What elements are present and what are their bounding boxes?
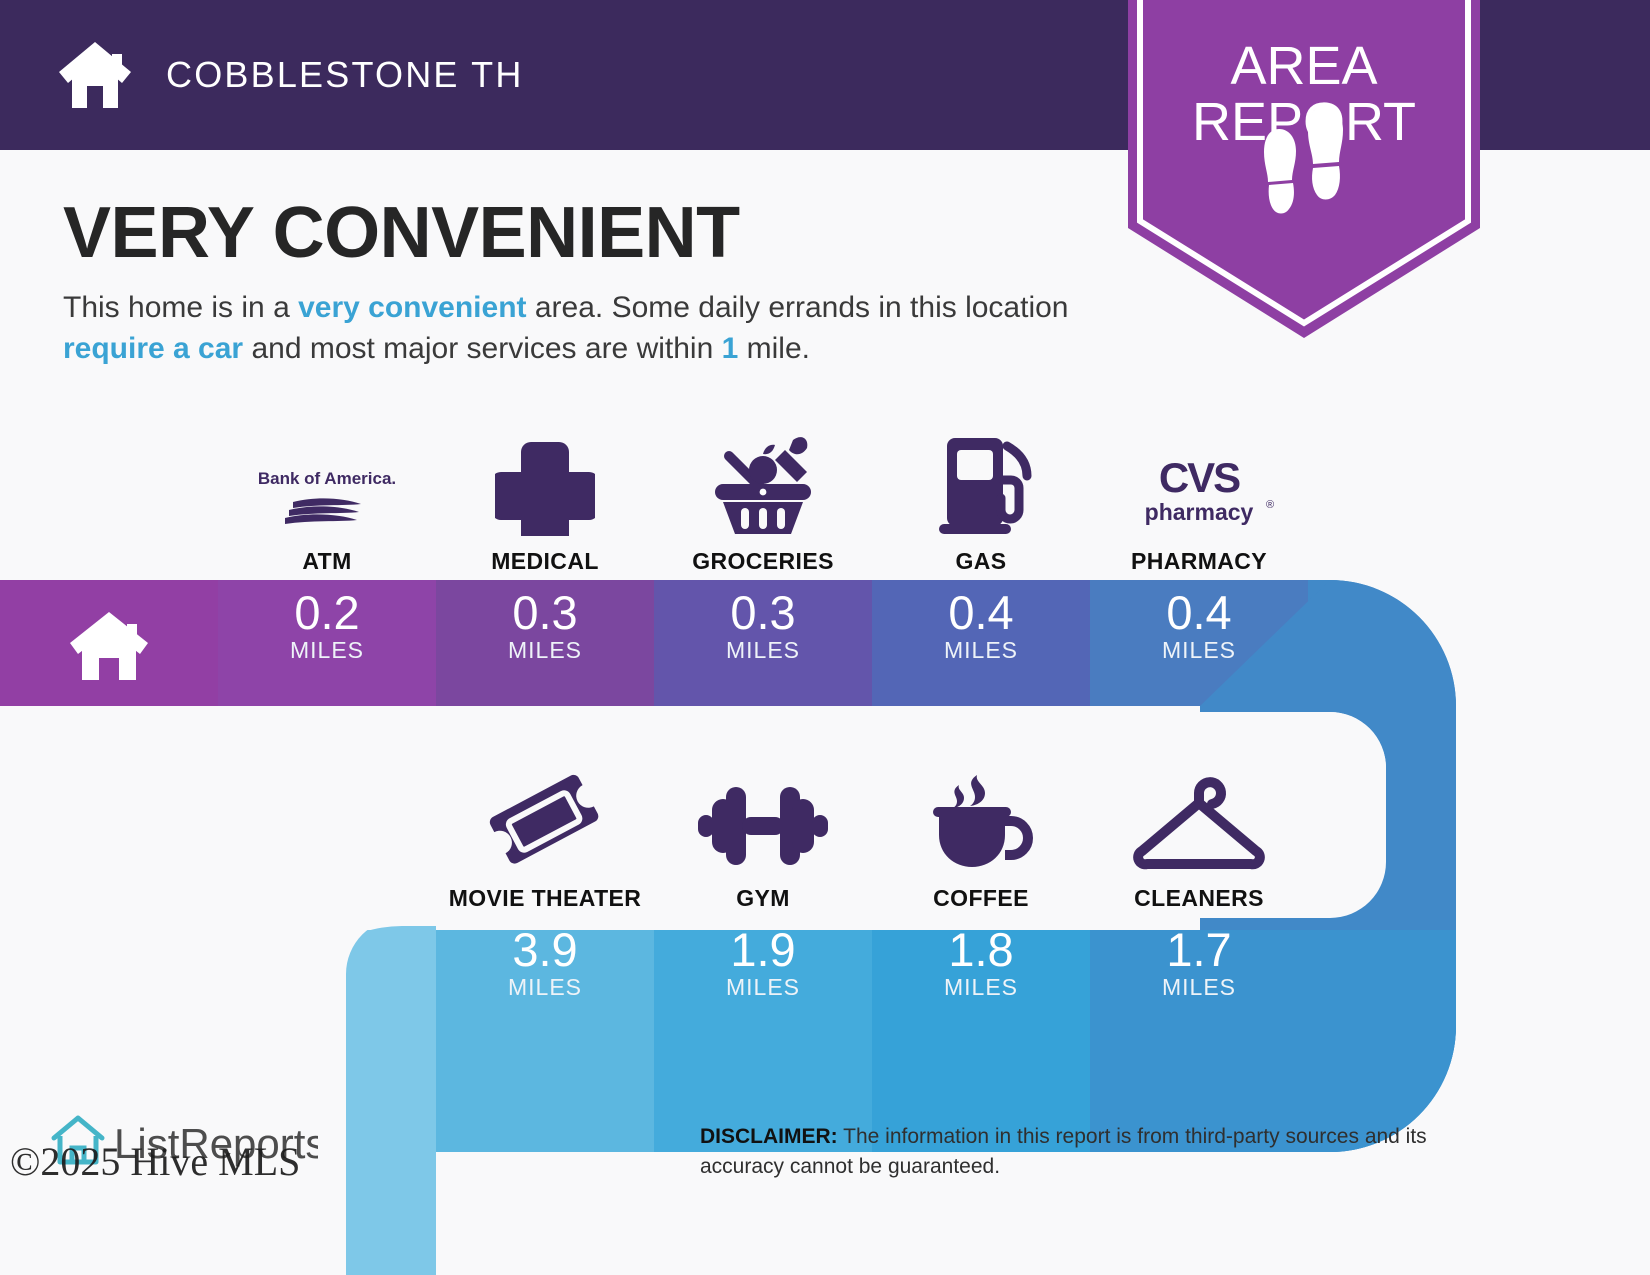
- route-home-marker: [0, 588, 218, 704]
- desc-highlight-car: require a car: [63, 332, 243, 365]
- disclaimer-label: DISCLAIMER:: [700, 1125, 838, 1148]
- distance-value-gym: 1.9: [654, 925, 872, 974]
- clothes-hanger-icon: [1090, 755, 1308, 873]
- poi-label-groceries: GROCERIES: [654, 548, 872, 575]
- poi-cleaners: CLEANERS: [1090, 755, 1308, 912]
- poi-movie-theater: MOVIE THEATER: [436, 755, 654, 912]
- distance-groceries: 0.3 MILES: [654, 588, 872, 664]
- page-description: This home is in a very convenient area. …: [63, 288, 1123, 370]
- distance-gym: 1.9 MILES: [654, 925, 872, 1001]
- desc-part4: mile.: [738, 332, 810, 365]
- desc-highlight-convenience: very convenient: [298, 291, 526, 324]
- distance-unit-groceries: MILES: [654, 637, 872, 664]
- poi-groceries: GROCERIES: [654, 418, 872, 575]
- distance-value-groceries: 0.3: [654, 588, 872, 637]
- distance-unit-pharmacy: MILES: [1090, 637, 1308, 664]
- distance-value-gas: 0.4: [872, 588, 1090, 637]
- distance-atm: 0.2 MILES: [218, 588, 436, 664]
- desc-part2: area. Some daily errands in this locatio…: [527, 291, 1069, 324]
- distance-value-movie-theater: 3.9: [436, 925, 654, 974]
- svg-text:CVS: CVS: [1159, 454, 1240, 501]
- poi-label-medical: MEDICAL: [436, 548, 654, 575]
- poi-label-gas: GAS: [872, 548, 1090, 575]
- gas-pump-icon: [872, 418, 1090, 536]
- area-report-badge: AREA REPORT: [1128, 0, 1480, 338]
- poi-label-cleaners: CLEANERS: [1090, 885, 1308, 912]
- row1-distances: 0.2 MILES 0.3 MILES 0.3 MILES 0.4 MILES …: [0, 588, 1650, 704]
- route-left-gap: [0, 712, 280, 932]
- poi-coffee: COFFEE: [872, 755, 1090, 912]
- distance-unit-gym: MILES: [654, 974, 872, 1001]
- distance-value-pharmacy: 0.4: [1090, 588, 1308, 637]
- grocery-basket-icon: [654, 418, 872, 536]
- cvs-pharmacy-logo: CVS pharmacy ®: [1090, 418, 1308, 536]
- badge-line2: REPORT: [1192, 92, 1416, 152]
- poi-gym: GYM: [654, 755, 872, 912]
- distance-value-coffee: 1.8: [872, 925, 1090, 974]
- distance-value-medical: 0.3: [436, 588, 654, 637]
- poi-label-pharmacy: PHARMACY: [1090, 548, 1308, 575]
- distance-unit-atm: MILES: [218, 637, 436, 664]
- home-icon: [56, 38, 134, 112]
- distance-unit-medical: MILES: [436, 637, 654, 664]
- svg-text:®: ®: [1266, 499, 1274, 511]
- area-report-page: COBBLESTONE TH AREA REPORT VERY CONVENIE…: [0, 0, 1650, 1275]
- distance-movie-theater: 3.9 MILES: [436, 925, 654, 1001]
- distance-unit-movie-theater: MILES: [436, 974, 654, 1001]
- poi-gas: GAS: [872, 418, 1090, 575]
- svg-text:pharmacy: pharmacy: [1145, 499, 1254, 525]
- coffee-cup-icon: [872, 755, 1090, 873]
- disclaimer: DISCLAIMER: The information in this repo…: [700, 1122, 1510, 1182]
- badge-line1: AREA: [1230, 36, 1377, 96]
- bank-of-america-logo: Bank of America.: [218, 418, 436, 536]
- property-title: COBBLESTONE TH: [166, 54, 524, 96]
- svg-text:Bank of America.: Bank of America.: [258, 469, 396, 488]
- desc-highlight-miles: 1: [722, 332, 739, 365]
- poi-medical: MEDICAL: [436, 418, 654, 575]
- distance-unit-gas: MILES: [872, 637, 1090, 664]
- distance-value-atm: 0.2: [218, 588, 436, 637]
- distance-unit-cleaners: MILES: [1090, 974, 1308, 1001]
- mls-copyright-watermark: ©2025 Hive MLS: [10, 1138, 300, 1185]
- movie-ticket-icon: [436, 755, 654, 873]
- dumbbell-icon: [654, 755, 872, 873]
- distance-unit-coffee: MILES: [872, 974, 1090, 1001]
- poi-label-atm: ATM: [218, 548, 436, 575]
- medical-cross-icon: [436, 418, 654, 536]
- row2-distances: 3.9 MILES 1.9 MILES 1.8 MILES 1.7 MILES: [0, 925, 1650, 1041]
- poi-label-movie-theater: MOVIE THEATER: [436, 885, 654, 912]
- distance-cleaners: 1.7 MILES: [1090, 925, 1308, 1001]
- distance-value-cleaners: 1.7: [1090, 925, 1308, 974]
- desc-part3: and most major services are within: [243, 332, 722, 365]
- poi-label-gym: GYM: [654, 885, 872, 912]
- home-icon: [67, 608, 151, 684]
- desc-part1: This home is in a: [63, 291, 298, 324]
- distance-pharmacy: 0.4 MILES: [1090, 588, 1308, 664]
- distance-gas: 0.4 MILES: [872, 588, 1090, 664]
- poi-pharmacy: CVS pharmacy ® PHARMACY: [1090, 418, 1308, 575]
- poi-label-coffee: COFFEE: [872, 885, 1090, 912]
- distance-coffee: 1.8 MILES: [872, 925, 1090, 1001]
- page-title: VERY CONVENIENT: [63, 192, 740, 274]
- poi-atm: Bank of America. ATM: [218, 418, 436, 575]
- distance-medical: 0.3 MILES: [436, 588, 654, 664]
